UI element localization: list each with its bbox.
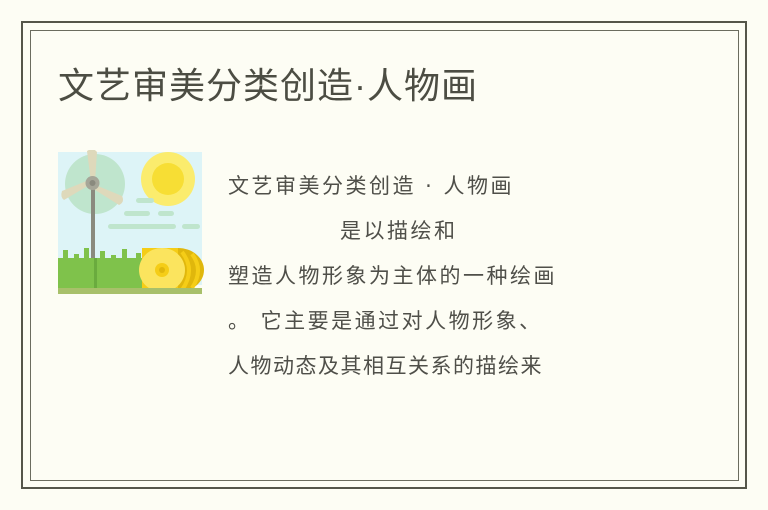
ground-strip xyxy=(58,288,202,294)
cloud-streak-2 xyxy=(124,211,150,216)
page-title: 文艺审美分类创造·人物画 xyxy=(58,62,698,110)
sun-inner xyxy=(152,163,184,195)
body-line-4: 。 它主要是通过对人物形象、 xyxy=(228,299,648,344)
body-line-5: 人物动态及其相互关系的描绘来 xyxy=(228,344,648,389)
article-card-page: 文艺审美分类创造·人物画 xyxy=(0,0,768,510)
hay-bales xyxy=(139,248,204,292)
body-line-3: 塑造人物形象为主体的一种绘画 xyxy=(228,254,648,299)
turbine-hub-center xyxy=(90,180,96,186)
article-body: 文艺审美分类创造 · 人物画 是以描绘和 塑造人物形象为主体的一种绘画 。 它主… xyxy=(228,164,648,389)
body-line-1: 文艺审美分类创造 · 人物画 xyxy=(228,164,648,209)
cloud-streak-1 xyxy=(136,198,154,203)
grass-shadow xyxy=(94,258,97,290)
cloud-streak-5 xyxy=(182,224,200,229)
wind-farm-illustration-svg xyxy=(50,150,210,298)
wind-farm-illustration xyxy=(50,150,210,298)
body-line-2: 是以描绘和 xyxy=(228,209,648,254)
cloud-streak-3 xyxy=(158,211,174,216)
cloud-streak-4 xyxy=(108,224,176,229)
